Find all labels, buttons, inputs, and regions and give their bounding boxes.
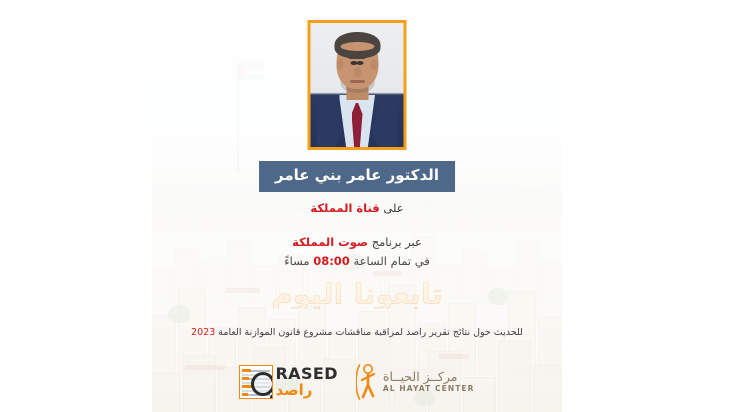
subtitle: للحديث حول نتائج تقرير راصد لمراقبة مناق… [152,328,562,338]
magnifier-lens-icon [251,372,273,396]
subtitle-text: للحديث حول نتائج تقرير راصد لمراقبة مناق… [215,327,523,338]
headline: تابعونا اليوم [152,280,562,309]
rased-arabic-label: راصد [275,383,337,398]
channel-prefix: على [380,201,404,215]
poster-content: الدكتور عامر بني عامر على قناة المملكة ع… [152,0,562,412]
channel-name: قناة المملكة [310,201,379,215]
rased-wordmark: RASED راصد [275,366,337,398]
program-name: صوت المملكة [292,235,368,249]
portrait-photo [311,23,404,147]
rased-logo: RASED راصد [239,360,337,404]
human-figure-icon [356,363,378,401]
magnifier-over-document-icon [239,365,273,399]
time-prefix: في تمام الساعة [350,254,430,268]
al-hayat-logo: مركــز الحيــاة AL HAYAT CENTER [356,360,475,404]
logos-row: RASED راصد [152,358,562,406]
rased-english-label: RASED [275,366,337,382]
poster-canvas: الدكتور عامر بني عامر على قناة المملكة ع… [0,0,750,412]
speaker-portrait [308,20,407,150]
al-hayat-wordmark: مركــز الحيــاة AL HAYAT CENTER [383,370,475,394]
time-suffix: مساءً [284,254,313,268]
time-value: 08:00 [313,254,350,268]
time-line: في تمام الساعة 08:00 مساءً [152,256,562,268]
subtitle-year: 2023 [191,327,215,338]
program-line: عبر برنامج صوت المملكة [152,237,562,249]
magnifier-handle-icon [270,394,274,399]
program-prefix: عبر برنامج [368,235,422,249]
speaker-name-banner: الدكتور عامر بني عامر [259,161,455,192]
announcement-poster: الدكتور عامر بني عامر على قناة المملكة ع… [152,0,562,412]
channel-line: على قناة المملكة [152,203,562,215]
al-hayat-english-label: AL HAYAT CENTER [383,385,475,394]
al-hayat-arabic-label: مركــز الحيــاة [383,370,475,384]
